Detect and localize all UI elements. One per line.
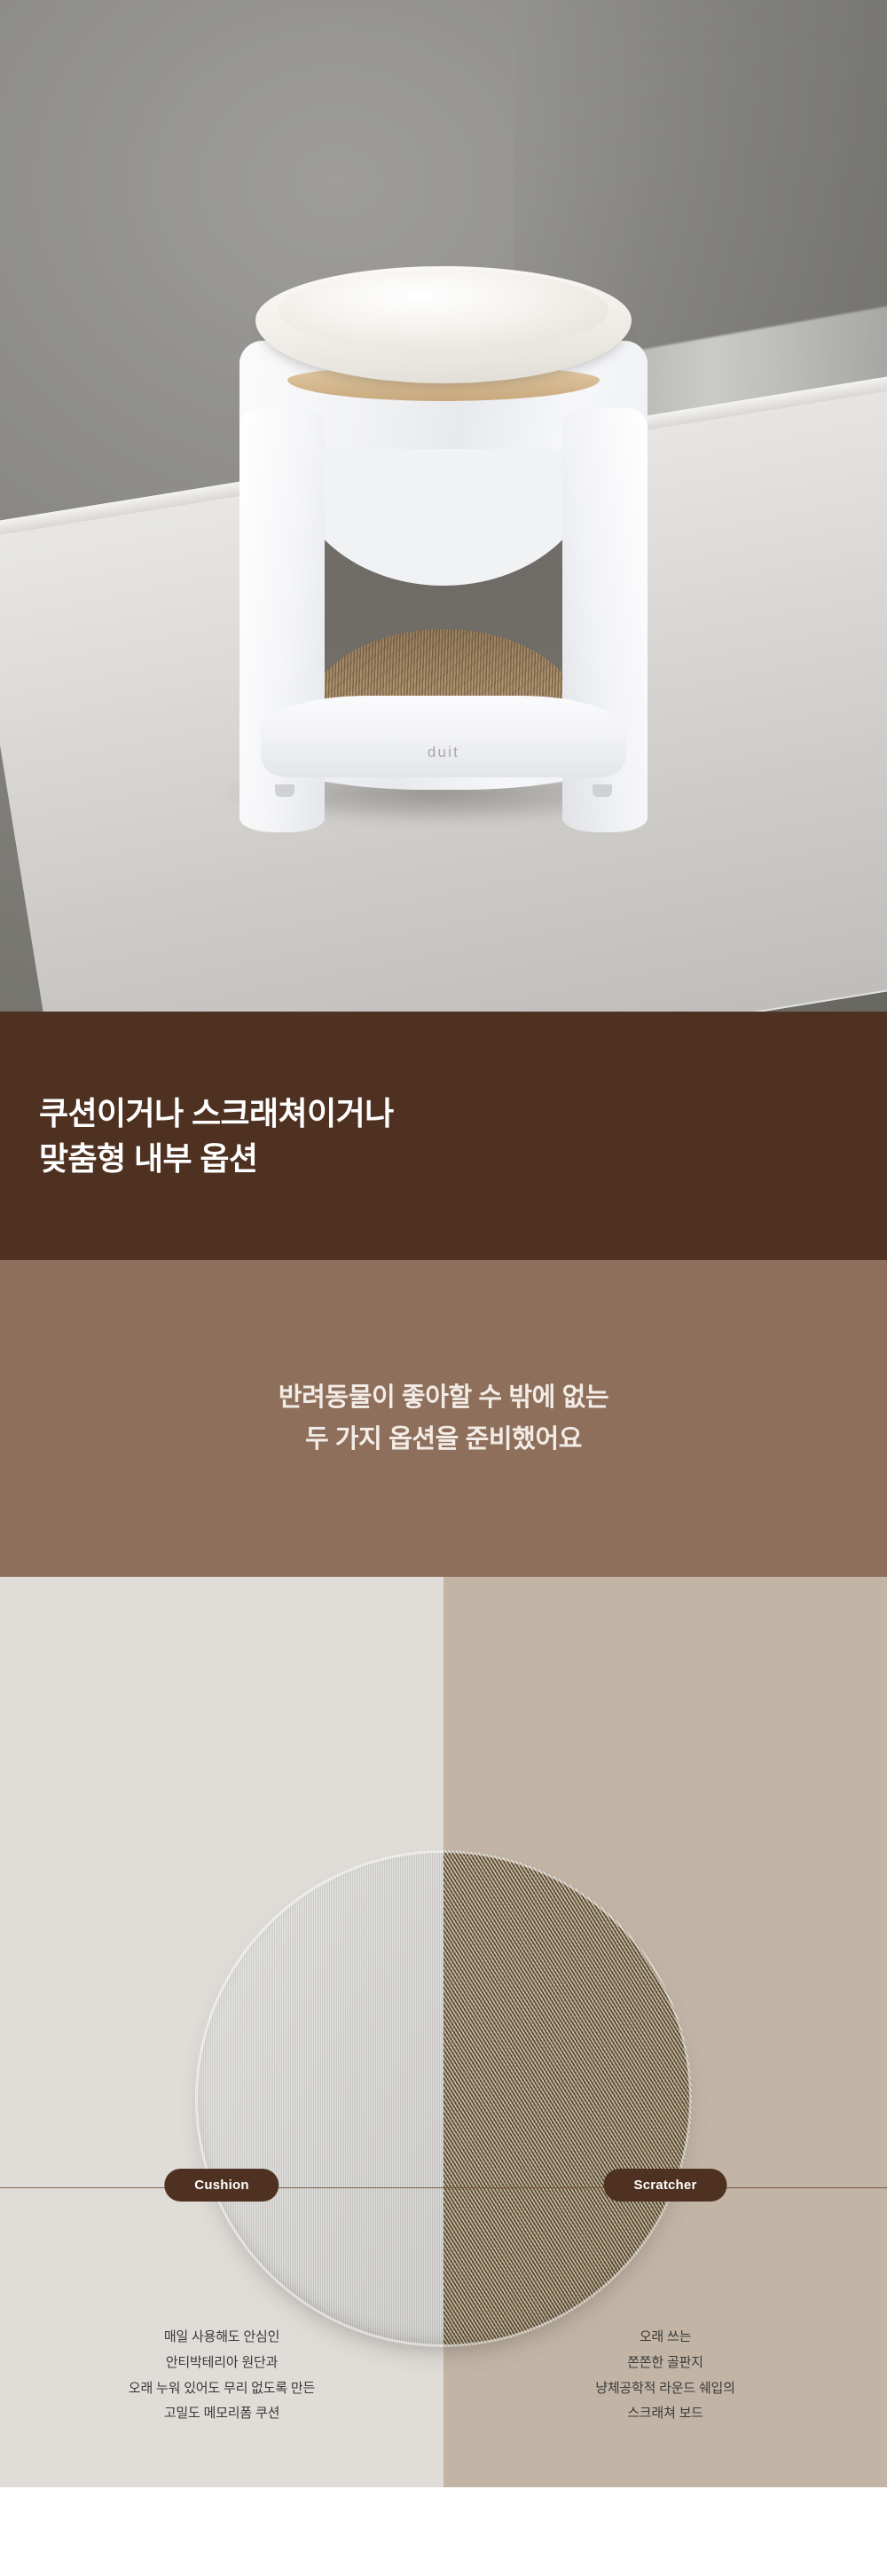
caption-line: 냥체공학적 라운드 쉐입의 xyxy=(595,2376,735,2402)
product-foot-right xyxy=(593,784,612,797)
product-foot-left xyxy=(275,784,294,797)
product-body-shell: duit xyxy=(239,341,648,790)
comparison-caption-section: 매일 사용해도 안심인 안티박테리아 원단과 오래 누워 있어도 무리 없도록 … xyxy=(0,2295,887,2487)
headline-section: 쿠션이거나 스크래쳐이거나 맞춤형 내부 옵션 xyxy=(0,1012,887,1260)
pet-house-product: duit xyxy=(239,266,648,816)
caption-line: 오래 쓰는 xyxy=(640,2325,691,2351)
caption-column-scratcher: 오래 쓰는 쫀쫀한 골판지 냥체공학적 라운드 쉐입의 스크래쳐 보드 xyxy=(443,2295,887,2487)
hero-product-photo: duit xyxy=(0,0,887,1012)
caption-line: 고밀도 메모리폼 쿠션 xyxy=(164,2401,279,2427)
caption-line: 안티박테리아 원단과 xyxy=(166,2351,278,2376)
badge-scratcher[interactable]: Scratcher xyxy=(603,2169,726,2202)
caption-line: 매일 사용해도 안심인 xyxy=(164,2325,279,2351)
subhead-line-2: 두 가지 옵션을 준비했어요 xyxy=(305,1419,582,1460)
option-label-row: Cushion Scratcher xyxy=(0,2169,887,2208)
brand-logo: duit xyxy=(428,744,459,761)
caption-line: 오래 누워 있어도 무리 없도록 만든 xyxy=(129,2376,315,2402)
option-divider-rule xyxy=(0,2187,887,2188)
headline-line-1: 쿠션이거나 스크래쳐이거나 xyxy=(39,1091,887,1136)
cushion-seat-top xyxy=(279,270,608,351)
cavity-top-curve xyxy=(321,449,566,586)
headline-line-2: 맞춤형 내부 옵션 xyxy=(39,1136,887,1181)
product-detail-page: duit 쿠션이거나 스크래쳐이거나 맞춤형 내부 옵션 반려동물이 좋아할 수… xyxy=(0,0,887,2487)
product-front-band: duit xyxy=(261,696,626,777)
subhead-section: 반려동물이 좋아할 수 밖에 없는 두 가지 옵션을 준비했어요 xyxy=(0,1260,887,1577)
subhead-line-1: 반려동물이 좋아할 수 밖에 없는 xyxy=(279,1377,608,1418)
caption-line: 쫀쫀한 골판지 xyxy=(627,2351,703,2376)
comparison-visual-section: Cushion Scratcher xyxy=(0,1577,887,2295)
caption-column-cushion: 매일 사용해도 안심인 안티박테리아 원단과 오래 누워 있어도 무리 없도록 … xyxy=(0,2295,443,2487)
caption-line: 스크래쳐 보드 xyxy=(627,2401,703,2427)
badge-cushion[interactable]: Cushion xyxy=(164,2169,279,2202)
